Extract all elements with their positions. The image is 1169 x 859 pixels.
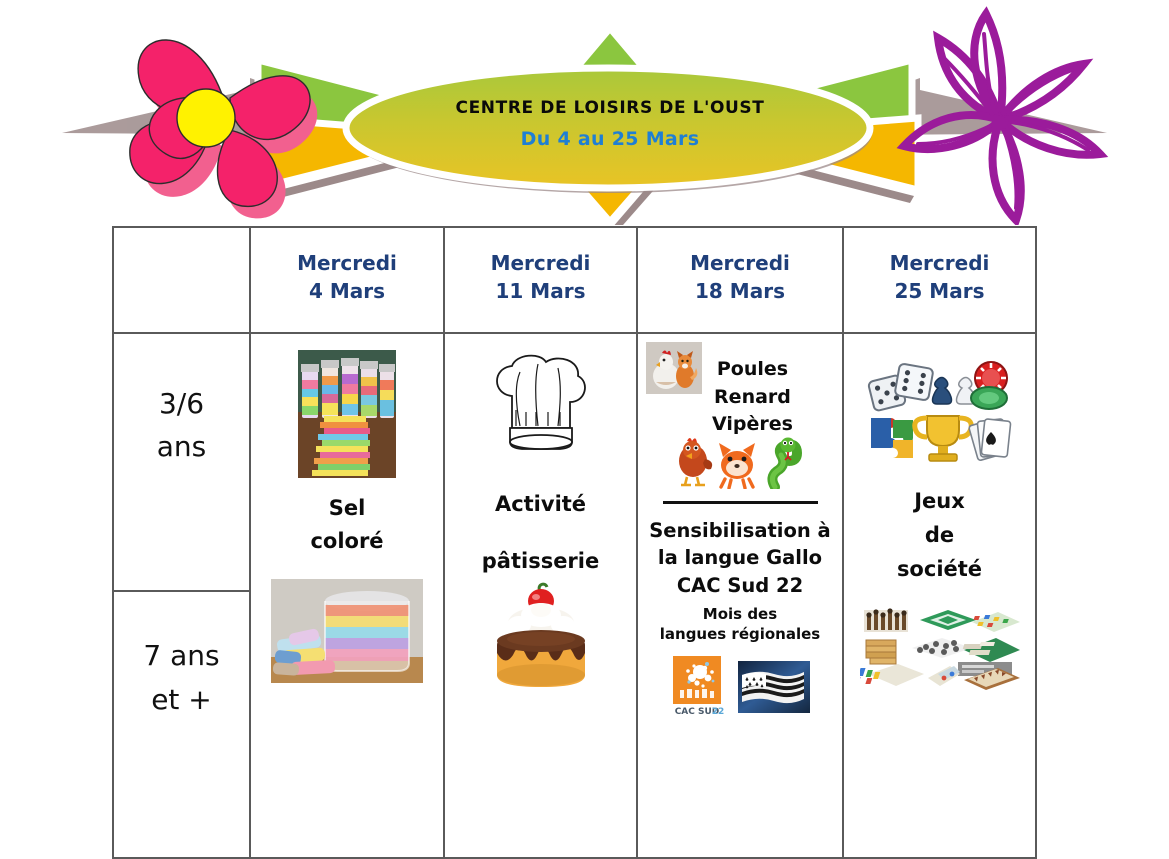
activity-title-1-line1: Sel — [310, 492, 383, 525]
casino-chips — [971, 362, 1007, 409]
day-name-2: Mercredi — [491, 251, 591, 275]
gallo-sub-line1: Mois des — [660, 604, 820, 624]
svg-text:22: 22 — [712, 707, 724, 717]
day-date-3: 18 Mars — [638, 278, 842, 306]
cake-body — [497, 630, 585, 687]
activity-cell-col-1: Sel coloré — [250, 333, 444, 858]
header-corner-cell — [113, 227, 250, 333]
board-games-collage-icon — [860, 602, 1020, 698]
banner-decoration — [0, 0, 1169, 225]
activity-title-4-line1: Jeux — [897, 484, 982, 518]
cartoon-snake — [772, 437, 797, 487]
chess-set — [864, 608, 908, 632]
day-date-2: 11 Mars — [445, 278, 636, 306]
header-cell-day-1: Mercredi 4 Mars — [250, 227, 444, 333]
gallo-line2: la langue Gallo — [649, 544, 830, 572]
activity-cell-col-3: Poules Renard Vipères — [637, 333, 843, 858]
hen-and-fox-photo — [646, 342, 702, 394]
gallo-line1: Sensibilisation à — [649, 517, 830, 545]
game-title-line1: Poules — [712, 356, 793, 384]
day-name-3: Mercredi — [690, 251, 790, 275]
cartoon-fox — [719, 443, 755, 488]
trophy — [914, 416, 971, 461]
puzzle-pieces — [871, 418, 913, 458]
activity-title-4-line3: société — [897, 552, 982, 586]
game-title-line2: Renard — [712, 384, 793, 412]
chocolate-cake-icon — [479, 579, 603, 697]
day-name-4: Mercredi — [890, 251, 990, 275]
header-cell-day-3: Mercredi 18 Mars — [637, 227, 843, 333]
age-label-7-plus: 7 ans et + — [113, 591, 250, 858]
age-label-line1: 7 ans — [143, 639, 219, 672]
game-title-block: Poules Renard Vipères — [712, 356, 793, 439]
chalk-and-rainbow-jar-photo — [271, 579, 423, 683]
chef-hat-icon — [486, 352, 596, 462]
header-cell-day-2: Mercredi 11 Mars — [444, 227, 637, 333]
age-label-line1: 3/6 — [159, 387, 204, 420]
playing-cards — [968, 419, 1010, 461]
gallo-sub-line2: langues régionales — [660, 624, 820, 644]
pawns — [932, 378, 975, 405]
cac-sud-22-logo: CAC SUD 22 — [670, 656, 724, 718]
gallo-text-block: Sensibilisation à la langue Gallo CAC Su… — [649, 517, 830, 600]
age-label-line2: et + — [114, 678, 249, 721]
gallo-subtext-block: Mois des langues régionales — [660, 604, 820, 645]
jenga-blocks — [866, 640, 896, 664]
table-header-row: Mercredi 4 Mars Mercredi 11 Mars Mercred… — [113, 227, 1036, 333]
activity-title-2-line1: Activité — [495, 492, 586, 516]
activity-title-1-line2: coloré — [310, 525, 383, 558]
day-name-1: Mercredi — [297, 251, 397, 275]
board-game-pieces-icon — [867, 356, 1013, 468]
dice — [867, 363, 933, 411]
colored-salt-bottles-photo — [298, 350, 396, 478]
banner-ellipse — [346, 68, 870, 188]
cartoon-hen — [679, 438, 712, 485]
table-row-age-3-6: 3/6 ans — [113, 333, 1036, 591]
age-label-line2: ans — [114, 425, 249, 468]
section-divider — [663, 501, 818, 504]
header-cell-day-4: Mercredi 25 Mars — [843, 227, 1036, 333]
breton-flag-icon — [738, 661, 810, 713]
activity-title-2-line2: pâtisserie — [482, 549, 599, 573]
hen-fox-snake-icon — [675, 435, 805, 489]
activity-cell-col-4: Jeux de société — [843, 333, 1036, 858]
flower-center — [177, 89, 235, 147]
gallo-line3: CAC Sud 22 — [649, 572, 830, 600]
day-date-1: 4 Mars — [251, 278, 443, 306]
schedule-table: Mercredi 4 Mars Mercredi 11 Mars Mercred… — [112, 226, 1037, 859]
activity-title-4-line2: de — [897, 518, 982, 552]
day-date-4: 25 Mars — [844, 278, 1035, 306]
age-label-3-6: 3/6 ans — [113, 333, 250, 591]
banner-header: CENTRE DE LOISIRS DE L'OUST Du 4 au 25 M… — [0, 0, 1169, 225]
activity-cell-col-2: Activité pâtisserie — [444, 333, 637, 858]
